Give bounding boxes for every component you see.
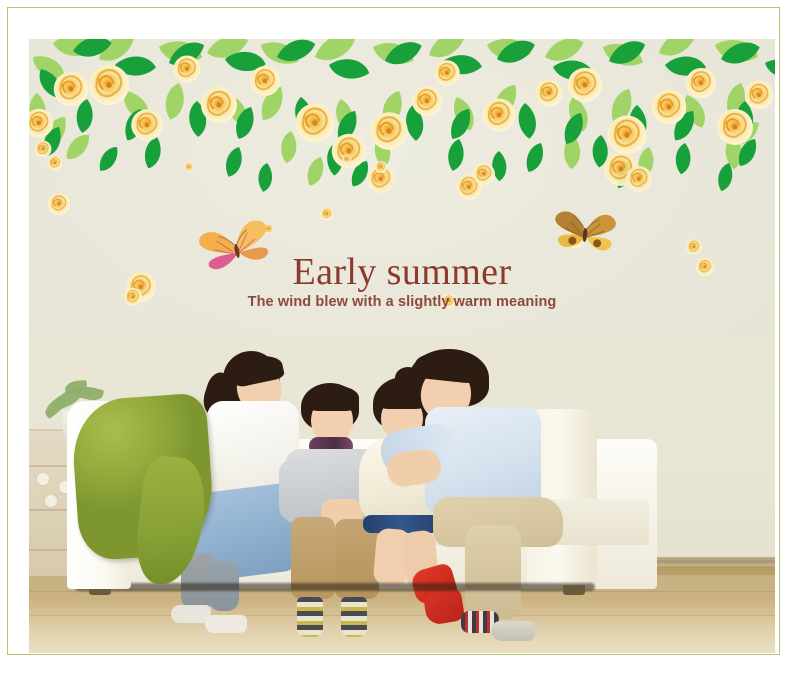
father-shoe (491, 621, 535, 641)
father-trouser-leg (465, 525, 521, 619)
room-photo (29, 339, 775, 653)
sticker-subtitle: The wind blew with a slightly warm meani… (29, 294, 775, 310)
product-card: Early summer The wind blew with a slight… (0, 0, 790, 677)
girl-red-shoe (423, 588, 466, 626)
wall-sticker-scene: Early summer The wind blew with a slight… (29, 39, 775, 653)
boy-sock (297, 597, 323, 637)
sofa-foot (563, 585, 585, 595)
sofa-shadow (75, 583, 595, 591)
boy-arm (279, 459, 309, 521)
sticker-title: Early summer (29, 250, 775, 294)
mother-shoe (205, 615, 247, 633)
card-border: Early summer The wind blew with a slight… (7, 7, 780, 655)
boy-sock (341, 597, 367, 637)
photo-content (29, 339, 775, 653)
boy-fringe (305, 385, 359, 411)
